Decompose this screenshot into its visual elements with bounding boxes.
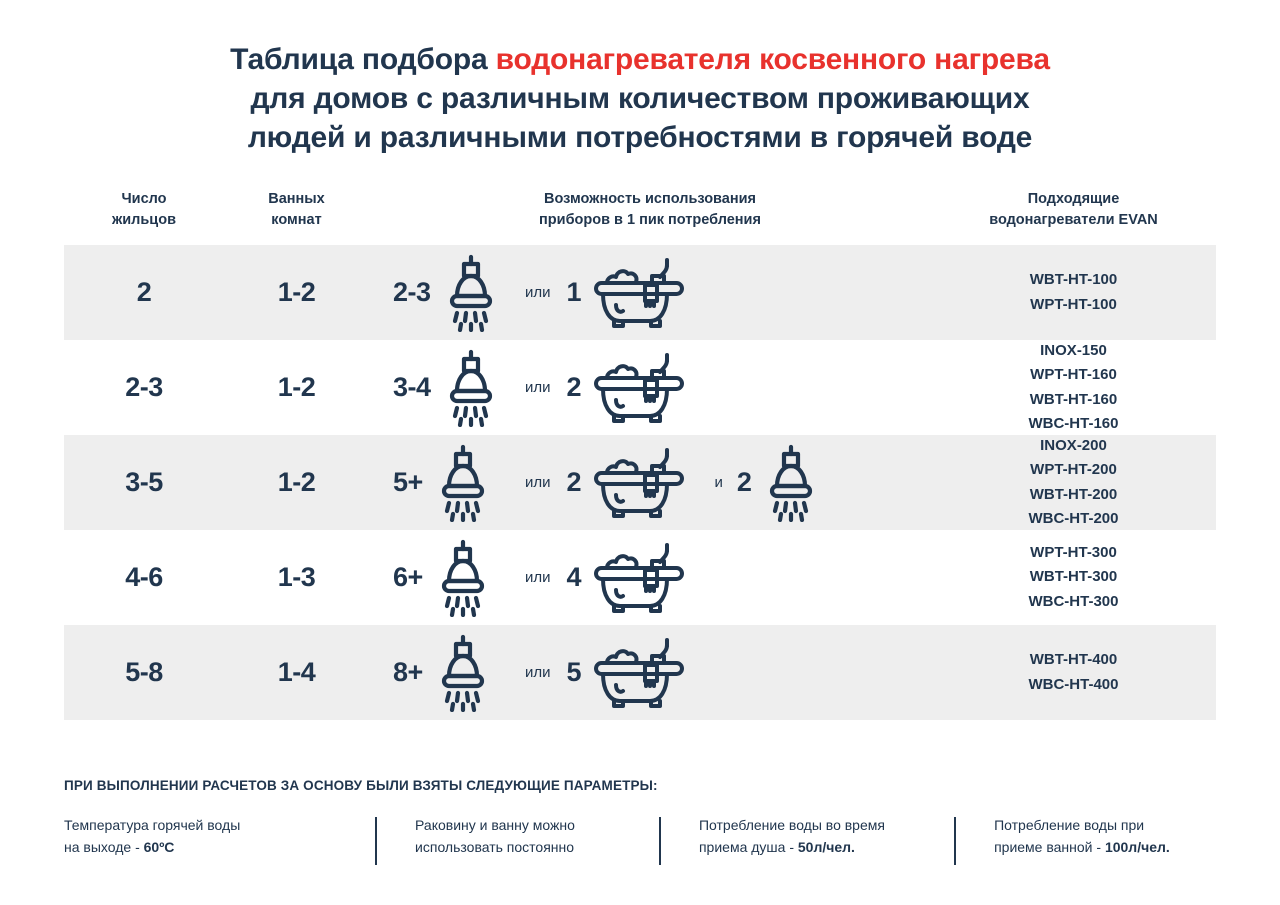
header-bathrooms: Ванных комнат bbox=[224, 189, 369, 230]
devices-group: 5+ или 2 bbox=[369, 435, 931, 530]
devices-group: 8+ или 5 bbox=[369, 625, 931, 720]
header-devices-line2: приборов в 1 пик потребления bbox=[369, 210, 931, 231]
row-conjunction-and: и bbox=[701, 474, 737, 491]
model-name: WBT-HT-200 bbox=[931, 483, 1216, 507]
cell-devices: 5+ или 2 bbox=[369, 435, 931, 530]
shower-icon-svg bbox=[432, 444, 494, 522]
bathtubs-count: 1 bbox=[567, 277, 582, 308]
bathtub-icon-svg bbox=[590, 540, 688, 616]
bathtub-icon bbox=[590, 635, 688, 711]
header-devices: Возможность использования приборов в 1 п… bbox=[369, 189, 931, 230]
cell-devices: 8+ или 5 bbox=[369, 625, 931, 720]
cell-bathrooms: 1-2 bbox=[224, 277, 369, 308]
header-people: Число жильцов bbox=[64, 189, 224, 230]
cell-devices: 3-4 или 2 bbox=[369, 340, 931, 435]
shower-icon-svg bbox=[440, 349, 502, 427]
footer-item-bath-usage-line1: Потребление воды при bbox=[994, 815, 1216, 837]
bathtubs-count: 2 bbox=[567, 467, 582, 498]
bathtubs-count: 2 bbox=[567, 372, 582, 403]
row-conjunction-or: или bbox=[509, 569, 567, 586]
footer-item-sink-bath-line2-plain: использовать постоянно bbox=[415, 839, 574, 855]
model-name: INOX-150 bbox=[931, 339, 1216, 363]
showers-count: 3-4 bbox=[393, 372, 431, 403]
model-name: WBC-HT-300 bbox=[931, 590, 1216, 614]
devices-group: 3-4 или 2 bbox=[369, 340, 931, 435]
table-row: 2-3 1-2 3-4 или bbox=[64, 340, 1216, 435]
bathrooms-count: 1-2 bbox=[278, 467, 316, 497]
cell-bathrooms: 1-2 bbox=[224, 372, 369, 403]
footer-item-bath-usage-value: 100л/чел. bbox=[1105, 839, 1170, 855]
footer-item-temperature-line2-plain: на выходе - bbox=[64, 839, 144, 855]
footer-divider-3 bbox=[954, 817, 956, 865]
models-list: INOX-200WPT-HT-200WBT-HT-200WBC-HT-200 bbox=[931, 434, 1216, 531]
header-models-line1: Подходящие bbox=[931, 189, 1216, 210]
footer-columns: Температура горячей воды на выходе - 60º… bbox=[64, 815, 1216, 858]
footer-item-sink-bath: Раковину и ванну можно использовать пост… bbox=[353, 815, 637, 858]
footer-note: ПРИ ВЫПОЛНЕНИИ РАСЧЕТОВ ЗА ОСНОВУ БЫЛИ В… bbox=[64, 778, 1216, 793]
cell-people: 2 bbox=[64, 277, 224, 308]
model-name: WBC-HT-160 bbox=[931, 412, 1216, 436]
bathtub-icon bbox=[590, 350, 688, 426]
header-bathrooms-line1: Ванных bbox=[224, 189, 369, 210]
bathtubs-group: 4 bbox=[567, 540, 701, 616]
cell-models: WBT-HT-400WBC-HT-400 bbox=[931, 648, 1216, 697]
model-name: WBT-HT-100 bbox=[931, 268, 1216, 292]
model-name: WPT-HT-200 bbox=[931, 458, 1216, 482]
footer-item-temperature-line2: на выходе - 60ºC bbox=[64, 837, 353, 859]
devices-group: 2-3 или 1 bbox=[369, 245, 931, 340]
bathtubs-count: 5 bbox=[567, 657, 582, 688]
people-count: 5-8 bbox=[125, 657, 163, 687]
title-line-1-plain: Таблица подбора bbox=[230, 43, 495, 76]
bathtub-icon-svg bbox=[590, 635, 688, 711]
footer-divider-2 bbox=[659, 817, 661, 865]
showers-group: 3-4 bbox=[393, 349, 509, 427]
extra-showers-group: 2 bbox=[737, 444, 823, 522]
table-body: 2 1-2 2-3 или bbox=[64, 245, 1216, 720]
showers-count: 2-3 bbox=[393, 277, 431, 308]
model-name: WBC-HT-400 bbox=[931, 673, 1216, 697]
title-line-1-accent: водонагревателя косвенного нагрева bbox=[496, 43, 1050, 76]
model-name: WBT-HT-400 bbox=[931, 648, 1216, 672]
shower-icon-svg bbox=[432, 634, 494, 712]
row-conjunction-or: или bbox=[509, 379, 567, 396]
footer-assumptions: ПРИ ВЫПОЛНЕНИИ РАСЧЕТОВ ЗА ОСНОВУ БЫЛИ В… bbox=[0, 778, 1280, 858]
footer-item-temperature-value: 60ºC bbox=[144, 839, 175, 855]
models-list: INOX-150WPT-HT-160WBT-HT-160WBC-HT-160 bbox=[931, 339, 1216, 436]
bathtubs-group: 2 bbox=[567, 350, 701, 426]
row-conjunction-or: или bbox=[509, 284, 567, 301]
people-count: 2-3 bbox=[125, 372, 163, 402]
model-name: WPT-HT-300 bbox=[931, 541, 1216, 565]
bathtub-icon-svg bbox=[590, 255, 688, 331]
bathrooms-count: 1-2 bbox=[278, 277, 316, 307]
footer-item-bath-usage-line2-plain: приеме ванной - bbox=[994, 839, 1105, 855]
selection-table: Число жильцов Ванных комнат Возможность … bbox=[0, 183, 1280, 720]
cell-devices: 6+ или 4 bbox=[369, 530, 931, 625]
title-line-1: Таблица подбора водонагревателя косвенно… bbox=[64, 40, 1216, 79]
title-line-2: для домов с различным количеством прожив… bbox=[64, 79, 1216, 118]
cell-models: INOX-150WPT-HT-160WBT-HT-160WBC-HT-160 bbox=[931, 339, 1216, 436]
bathrooms-count: 1-4 bbox=[278, 657, 316, 687]
cell-people: 5-8 bbox=[64, 657, 224, 688]
footer-item-temperature-line1: Температура горячей воды bbox=[64, 815, 353, 837]
model-name: WBT-HT-300 bbox=[931, 565, 1216, 589]
footer-item-shower-usage-line2: приема душа - 50л/чел. bbox=[699, 837, 932, 859]
table-row: 5-8 1-4 8+ или bbox=[64, 625, 1216, 720]
cell-devices: 2-3 или 1 bbox=[369, 245, 931, 340]
header-bathrooms-line2: комнат bbox=[224, 210, 369, 231]
shower-icon bbox=[432, 444, 494, 522]
cell-people: 2-3 bbox=[64, 372, 224, 403]
shower-icon-svg bbox=[760, 444, 822, 522]
cell-people: 4-6 bbox=[64, 562, 224, 593]
bathtub-icon bbox=[590, 445, 688, 521]
footer-item-sink-bath-line1: Раковину и ванну можно bbox=[415, 815, 637, 837]
shower-icon bbox=[432, 539, 494, 617]
bathtubs-group: 1 bbox=[567, 255, 701, 331]
model-name: WPT-HT-100 bbox=[931, 293, 1216, 317]
cell-bathrooms: 1-3 bbox=[224, 562, 369, 593]
people-count: 3-5 bbox=[125, 467, 163, 497]
shower-icon bbox=[432, 634, 494, 712]
bathrooms-count: 1-2 bbox=[278, 372, 316, 402]
showers-group: 6+ bbox=[393, 539, 509, 617]
model-name: WPT-HT-160 bbox=[931, 363, 1216, 387]
footer-item-shower-usage-value: 50л/чел. bbox=[798, 839, 855, 855]
shower-icon bbox=[440, 254, 502, 332]
model-name: WBT-HT-160 bbox=[931, 388, 1216, 412]
models-list: WBT-HT-100WPT-HT-100 bbox=[931, 268, 1216, 317]
table-row: 2 1-2 2-3 или bbox=[64, 245, 1216, 340]
cell-bathrooms: 1-4 bbox=[224, 657, 369, 688]
row-conjunction-or: или bbox=[509, 664, 567, 681]
cell-models: INOX-200WPT-HT-200WBT-HT-200WBC-HT-200 bbox=[931, 434, 1216, 531]
footer-item-shower-usage-line1: Потребление воды во время bbox=[699, 815, 932, 837]
showers-group: 2-3 bbox=[393, 254, 509, 332]
bathtubs-count: 4 bbox=[567, 562, 582, 593]
bathtub-icon bbox=[590, 540, 688, 616]
infographic-page: Таблица подбора водонагревателя косвенно… bbox=[0, 0, 1280, 905]
model-name: WBC-HT-200 bbox=[931, 507, 1216, 531]
showers-group: 5+ bbox=[393, 444, 509, 522]
models-list: WPT-HT-300WBT-HT-300WBC-HT-300 bbox=[931, 541, 1216, 614]
bathtubs-group: 2 bbox=[567, 445, 701, 521]
footer-item-shower-usage: Потребление воды во время приема душа - … bbox=[637, 815, 932, 858]
shower-icon bbox=[760, 444, 822, 522]
devices-group: 6+ или 4 bbox=[369, 530, 931, 625]
shower-icon-svg bbox=[432, 539, 494, 617]
table-row: 3-5 1-2 5+ или bbox=[64, 435, 1216, 530]
showers-group: 8+ bbox=[393, 634, 509, 712]
bathtub-icon bbox=[590, 255, 688, 331]
row-conjunction-or: или bbox=[509, 474, 567, 491]
extra-showers-count: 2 bbox=[737, 467, 752, 498]
people-count: 2 bbox=[137, 277, 152, 307]
cell-models: WPT-HT-300WBT-HT-300WBC-HT-300 bbox=[931, 541, 1216, 614]
showers-count: 6+ bbox=[393, 562, 423, 593]
bathtub-icon-svg bbox=[590, 350, 688, 426]
page-title: Таблица подбора водонагревателя косвенно… bbox=[0, 0, 1280, 157]
model-name: INOX-200 bbox=[931, 434, 1216, 458]
footer-item-shower-usage-line2-plain: приема душа - bbox=[699, 839, 798, 855]
footer-divider-1 bbox=[375, 817, 377, 865]
header-people-line2: жильцов bbox=[64, 210, 224, 231]
header-models-line2: водонагреватели EVAN bbox=[931, 210, 1216, 231]
showers-count: 5+ bbox=[393, 467, 423, 498]
bathrooms-count: 1-3 bbox=[278, 562, 316, 592]
cell-models: WBT-HT-100WPT-HT-100 bbox=[931, 268, 1216, 317]
table-header-row: Число жильцов Ванных комнат Возможность … bbox=[64, 183, 1216, 245]
header-models: Подходящие водонагреватели EVAN bbox=[931, 189, 1216, 230]
footer-item-bath-usage: Потребление воды при приеме ванной - 100… bbox=[932, 815, 1216, 858]
footer-item-bath-usage-line2: приеме ванной - 100л/чел. bbox=[994, 837, 1216, 859]
bathtubs-group: 5 bbox=[567, 635, 701, 711]
footer-item-sink-bath-line2: использовать постоянно bbox=[415, 837, 637, 859]
showers-count: 8+ bbox=[393, 657, 423, 688]
footer-item-temperature: Температура горячей воды на выходе - 60º… bbox=[64, 815, 353, 858]
header-devices-line1: Возможность использования bbox=[369, 189, 931, 210]
shower-icon-svg bbox=[440, 254, 502, 332]
table-row: 4-6 1-3 6+ или bbox=[64, 530, 1216, 625]
shower-icon bbox=[440, 349, 502, 427]
cell-people: 3-5 bbox=[64, 467, 224, 498]
header-people-line1: Число bbox=[64, 189, 224, 210]
bathtub-icon-svg bbox=[590, 445, 688, 521]
title-line-3: людей и различными потребностями в горяч… bbox=[64, 118, 1216, 157]
people-count: 4-6 bbox=[125, 562, 163, 592]
models-list: WBT-HT-400WBC-HT-400 bbox=[931, 648, 1216, 697]
cell-bathrooms: 1-2 bbox=[224, 467, 369, 498]
